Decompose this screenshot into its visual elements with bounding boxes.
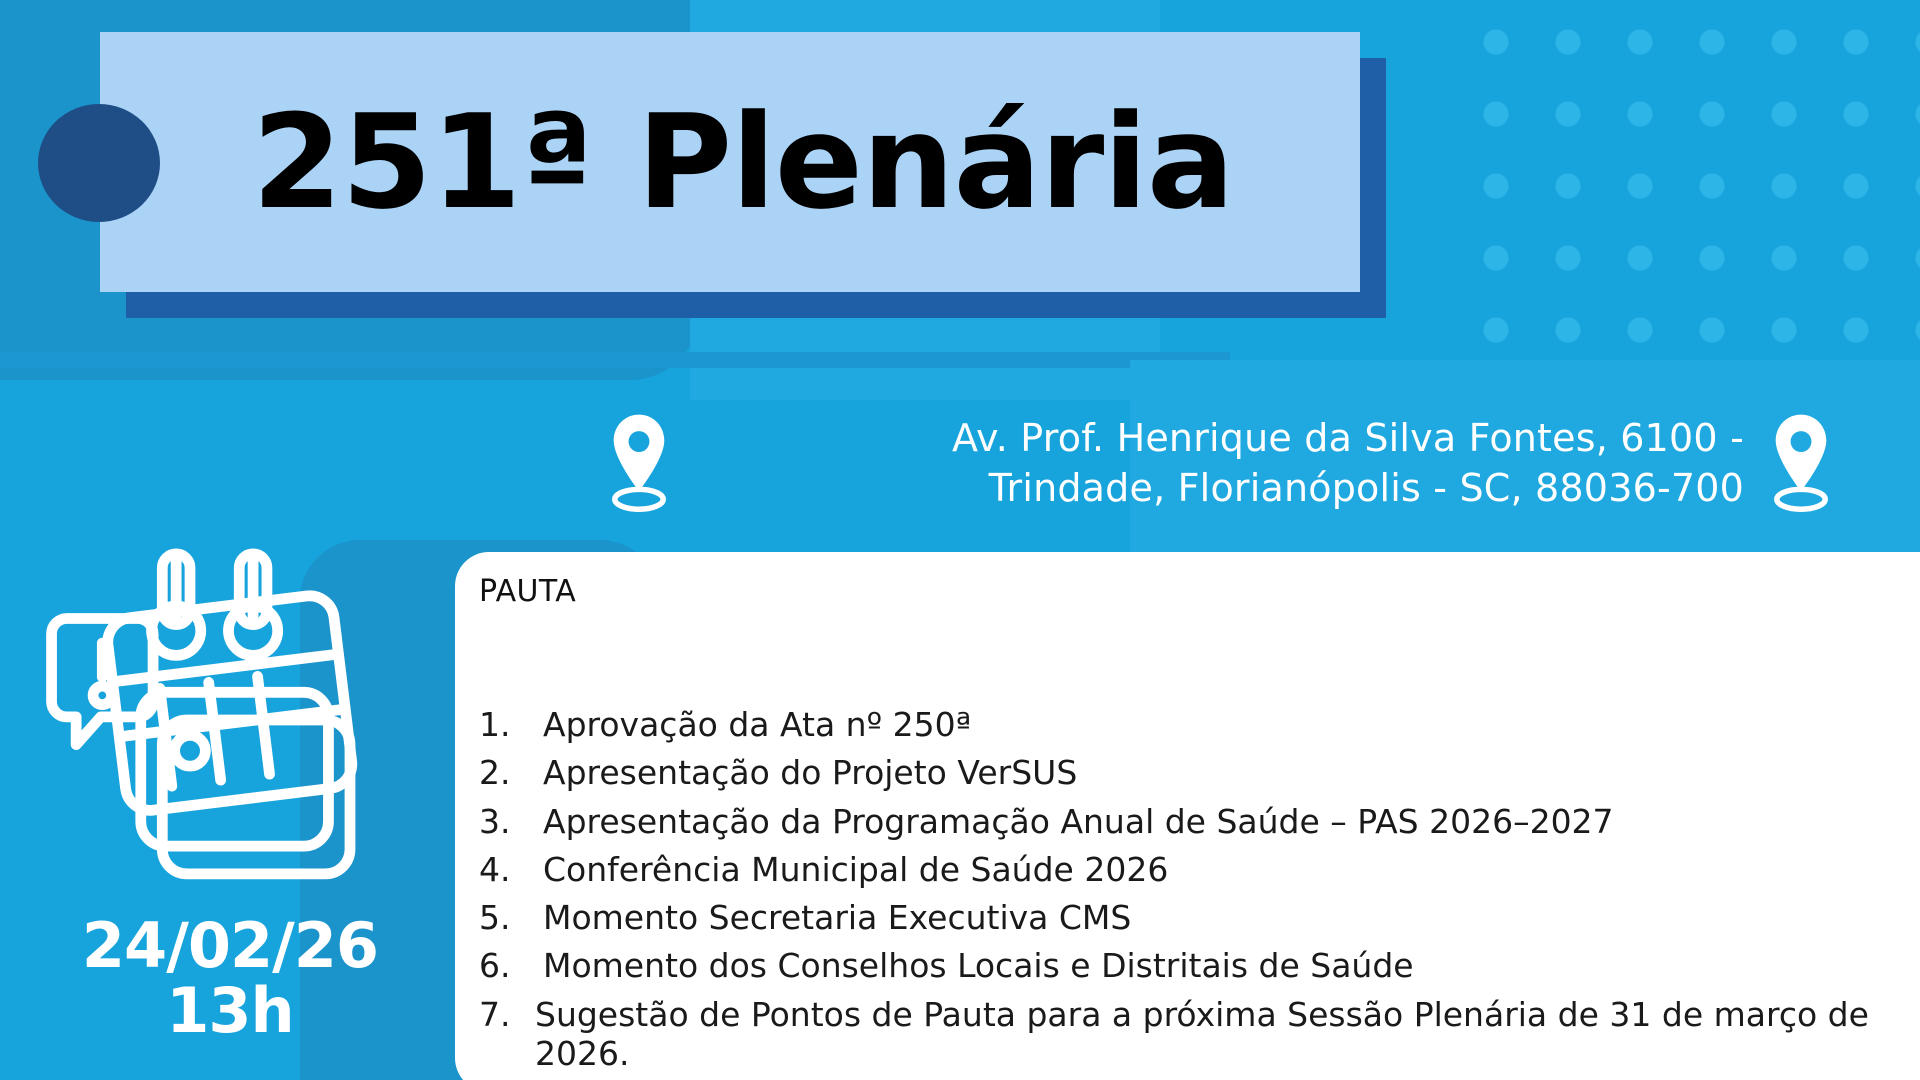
agenda-item-label: Sugestão de Pontos de Pauta para a próxi… [535,995,1920,1074]
list-item: 1. Aprovação da Ata nº 250ª [479,705,1920,744]
agenda-list: 1. Aprovação da Ata nº 250ª 2. Apresenta… [479,705,1920,1073]
agenda-item-label: Aprovação da Ata nº 250ª [543,705,1920,744]
agenda-item-label: Conferência Municipal de Saúde 2026 [543,850,1920,889]
agenda-item-number: 7. [479,995,535,1034]
dot-pattern-decoration [1450,0,1920,420]
agenda-card: PAUTA 1. Aprovação da Ata nº 250ª 2. Apr… [455,552,1920,1080]
background-band-middle [0,352,1230,368]
agenda-item-label: Apresentação da Programação Anual de Saú… [543,802,1920,841]
list-item: 7. Sugestão de Pontos de Pauta para a pr… [479,995,1920,1074]
event-time: 13h [30,978,430,1043]
agenda-item-number: 3. [479,802,543,841]
location-row: Av. Prof. Henrique da Silva Fontes, 6100… [600,408,1840,518]
page-title: 251ª Plenária [252,97,1234,227]
schedule-block: 24/02/26 13h [30,520,430,1043]
agenda-item-number: 1. [479,705,543,744]
title-panel: 251ª Plenária [100,32,1360,292]
agenda-item-label: Momento Secretaria Executiva CMS [543,898,1920,937]
agenda-item-label: Momento dos Conselhos Locais e Distritai… [543,946,1920,985]
list-item: 2. Apresentação do Projeto VerSUS [479,753,1920,792]
event-date: 24/02/26 [30,913,430,978]
location-address: Av. Prof. Henrique da Silva Fontes, 6100… [700,413,1744,513]
map-pin-icon [600,408,678,518]
agenda-heading: PAUTA [479,574,1920,609]
agenda-item-number: 4. [479,850,543,889]
event-poster: 251ª Plenária Av. Prof. Henrique da Silv… [0,0,1920,1080]
map-pin-icon [1762,408,1840,518]
list-item: 4. Conferência Municipal de Saúde 2026 [479,850,1920,889]
address-line-2: Trindade, Florianópolis - SC, 88036-700 [989,466,1744,510]
address-line-1: Av. Prof. Henrique da Silva Fontes, 6100… [952,416,1744,460]
title-circle-decoration [38,104,160,222]
agenda-item-number: 6. [479,946,543,985]
agenda-item-number: 5. [479,898,543,937]
list-item: 6. Momento dos Conselhos Locais e Distri… [479,946,1920,985]
list-item: 3. Apresentação da Programação Anual de … [479,802,1920,841]
agenda-item-label: Apresentação do Projeto VerSUS [543,753,1920,792]
calendar-alert-icon [30,520,430,905]
list-item: 5. Momento Secretaria Executiva CMS [479,898,1920,937]
agenda-item-number: 2. [479,753,543,792]
